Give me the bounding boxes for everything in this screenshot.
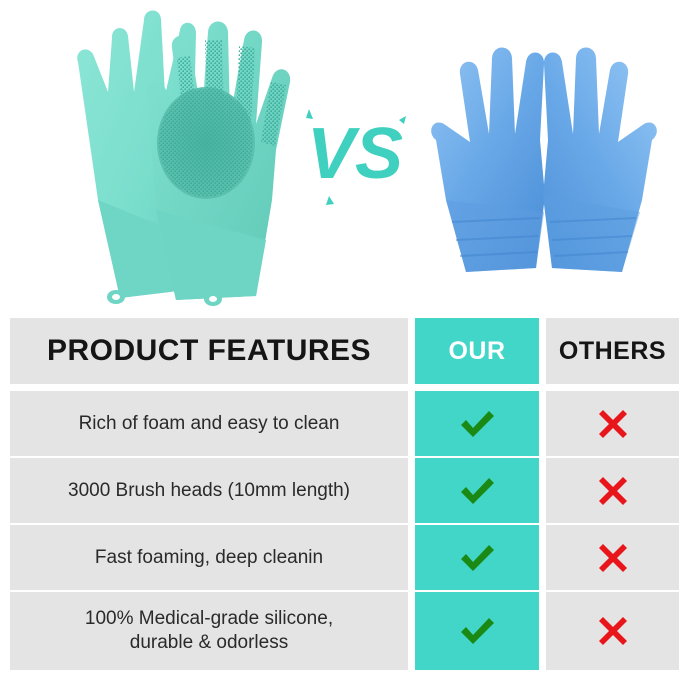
others-cell <box>546 592 679 670</box>
column-header-others-label: OTHERS <box>559 337 666 366</box>
cross-icon <box>597 542 629 574</box>
our-cell <box>415 458 539 523</box>
hero-illustration: VS <box>0 0 679 316</box>
table-row: Fast foaming, deep cleanin <box>0 525 679 590</box>
feature-cell: Rich of foam and easy to clean <box>10 391 408 456</box>
header-cell-our: OUR <box>415 318 539 384</box>
hero-product-imagery: VS <box>0 0 679 316</box>
column-header-our-label: OUR <box>448 337 505 366</box>
feature-cell: 3000 Brush heads (10mm length) <box>10 458 408 523</box>
product-comparison-page: VS <box>0 0 679 679</box>
page-title: PRODUCT FEATURES <box>47 334 371 368</box>
feature-cell: Fast foaming, deep cleanin <box>10 525 408 590</box>
header-cell-others: OTHERS <box>546 318 679 384</box>
feature-cell: 100% Medical-grade silicone, durable & o… <box>10 592 408 670</box>
versus-badge: VS <box>306 109 406 205</box>
blue-glove-right <box>543 48 657 273</box>
our-cell <box>415 391 539 456</box>
check-icon <box>457 474 497 508</box>
our-cell <box>415 592 539 670</box>
cross-icon <box>597 615 629 647</box>
table-row: 3000 Brush heads (10mm length) <box>0 458 679 523</box>
teal-glove-front-bristled <box>147 22 291 307</box>
cross-icon <box>597 408 629 440</box>
versus-label: VS <box>307 114 403 194</box>
feature-label: 100% Medical-grade silicone, durable & o… <box>24 607 394 655</box>
table-row: Rich of foam and easy to clean <box>0 391 679 456</box>
blue-glove-left <box>431 48 545 273</box>
feature-label: Rich of foam and easy to clean <box>24 412 394 436</box>
feature-label: Fast foaming, deep cleanin <box>24 546 394 570</box>
our-cell <box>415 525 539 590</box>
feature-label: 3000 Brush heads (10mm length) <box>24 479 394 503</box>
cross-icon <box>597 475 629 507</box>
others-cell <box>546 525 679 590</box>
check-icon <box>457 407 497 441</box>
check-icon <box>457 614 497 648</box>
others-cell <box>546 391 679 456</box>
check-icon <box>457 541 497 575</box>
others-cell <box>546 458 679 523</box>
table-header-row: PRODUCT FEATURES OUR OTHERS <box>0 318 679 384</box>
comparison-table: PRODUCT FEATURES OUR OTHERS Rich of foam… <box>0 316 679 679</box>
header-cell-product-features: PRODUCT FEATURES <box>10 318 408 384</box>
table-row: 100% Medical-grade silicone, durable & o… <box>0 592 679 670</box>
feature-label-line2: durable & odorless <box>130 632 288 653</box>
feature-label-line1: 100% Medical-grade silicone, <box>85 608 333 629</box>
